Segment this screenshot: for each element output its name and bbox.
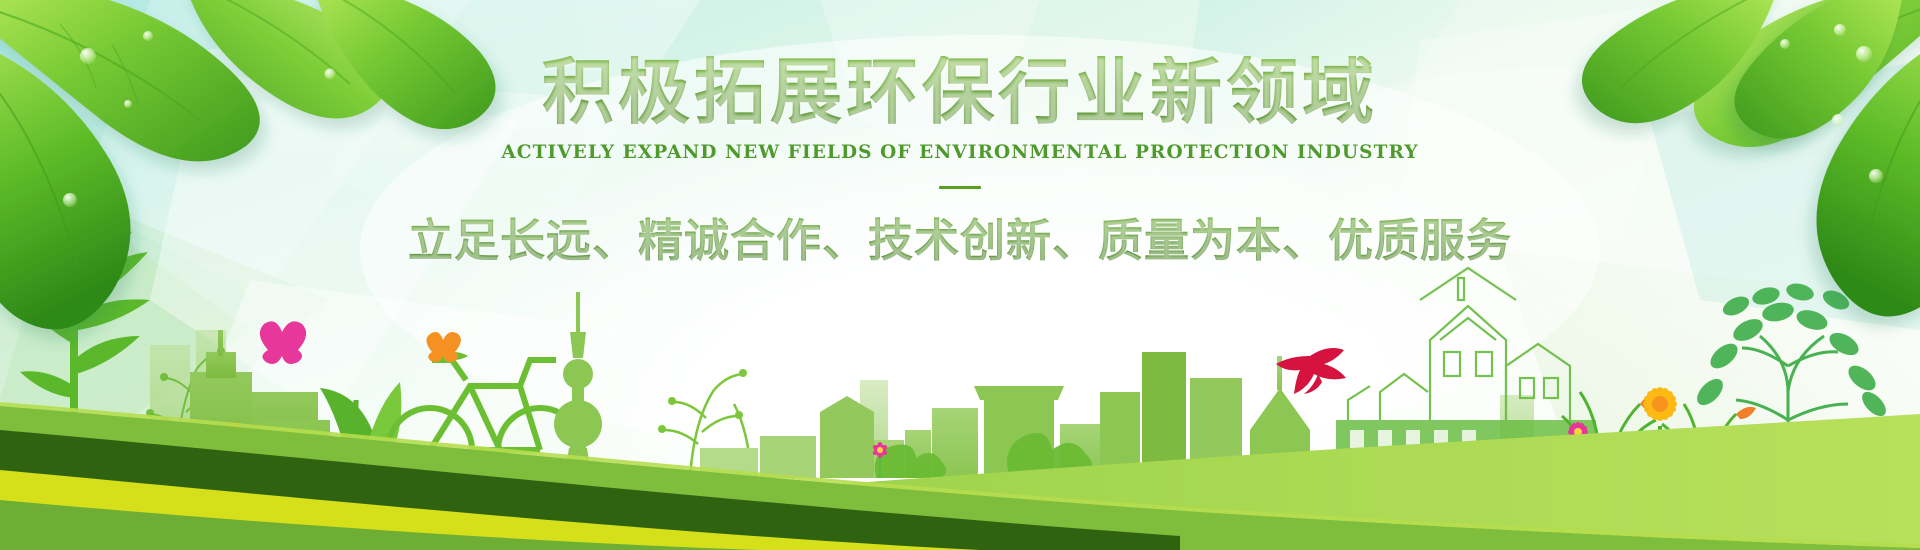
eco-banner: 积极拓展环保行业新领域 ACTIVELY EXPAND NEW FIELDS O…: [0, 0, 1920, 550]
leaf-cluster-icon: [0, 0, 1920, 550]
